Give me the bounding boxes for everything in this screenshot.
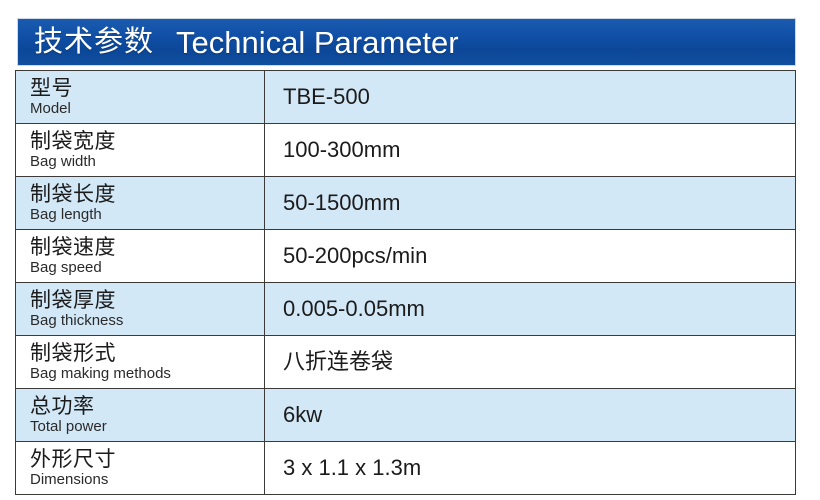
spec-label-cell: 制袋长度Bag length bbox=[16, 177, 265, 230]
spec-label-group: 制袋长度Bag length bbox=[16, 180, 264, 226]
spec-label-group: 制袋速度Bag speed bbox=[16, 233, 264, 279]
spec-value-text: 50-1500mm bbox=[265, 191, 795, 215]
spec-label-cell: 制袋厚度Bag thickness bbox=[16, 283, 265, 336]
spec-value-cell: 50-200pcs/min bbox=[265, 230, 796, 283]
spec-label-chinese: 制袋厚度 bbox=[30, 289, 264, 313]
spec-label-chinese: 总功率 bbox=[30, 395, 264, 419]
spec-label-group: 型号Model bbox=[16, 74, 264, 120]
spec-label-cell: 型号Model bbox=[16, 71, 265, 124]
spec-value-text: 0.005-0.05mm bbox=[265, 297, 795, 321]
spec-value-cell: 3 x 1.1 x 1.3m bbox=[265, 442, 796, 495]
spec-label-group: 总功率Total power bbox=[16, 392, 264, 438]
spec-value-cell: 50-1500mm bbox=[265, 177, 796, 230]
table-row: 外形尺寸Dimensions3 x 1.1 x 1.3m bbox=[16, 442, 796, 495]
spec-label-chinese: 制袋宽度 bbox=[30, 130, 264, 154]
spec-value-cell: TBE-500 bbox=[265, 71, 796, 124]
specification-table-body: 型号ModelTBE-500制袋宽度Bag width100-300mm制袋长度… bbox=[16, 71, 796, 495]
spec-value-cell: 100-300mm bbox=[265, 124, 796, 177]
spec-label-chinese: 外形尺寸 bbox=[30, 448, 264, 472]
spec-label-english: Model bbox=[30, 101, 264, 117]
spec-label-cell: 制袋宽度Bag width bbox=[16, 124, 265, 177]
technical-parameter-spec-sheet: 技术参数 Technical Parameter 型号ModelTBE-500制… bbox=[0, 0, 820, 500]
spec-label-english: Total power bbox=[30, 419, 264, 435]
spec-label-cell: 外形尺寸Dimensions bbox=[16, 442, 265, 495]
spec-value-text: 八折连卷袋 bbox=[265, 350, 795, 374]
spec-label-chinese: 制袋速度 bbox=[30, 236, 264, 260]
spec-label-english: Bag length bbox=[30, 207, 264, 223]
spec-label-group: 制袋宽度Bag width bbox=[16, 127, 264, 173]
spec-value-cell: 0.005-0.05mm bbox=[265, 283, 796, 336]
spec-label-english: Bag making methods bbox=[30, 366, 264, 382]
spec-label-cell: 总功率Total power bbox=[16, 389, 265, 442]
spec-label-chinese: 制袋长度 bbox=[30, 183, 264, 207]
spec-label-english: Bag width bbox=[30, 154, 264, 170]
table-row: 制袋厚度Bag thickness0.005-0.05mm bbox=[16, 283, 796, 336]
spec-value-text: 3 x 1.1 x 1.3m bbox=[265, 456, 795, 480]
spec-label-english: Bag thickness bbox=[30, 313, 264, 329]
page-title-chinese: 技术参数 bbox=[34, 28, 154, 57]
spec-label-english: Bag speed bbox=[30, 260, 264, 276]
table-row: 制袋长度Bag length50-1500mm bbox=[16, 177, 796, 230]
spec-value-cell: 6kw bbox=[265, 389, 796, 442]
spec-label-cell: 制袋速度Bag speed bbox=[16, 230, 265, 283]
spec-value-text: 50-200pcs/min bbox=[265, 244, 795, 268]
spec-value-text: 6kw bbox=[265, 403, 795, 427]
specification-table: 型号ModelTBE-500制袋宽度Bag width100-300mm制袋长度… bbox=[15, 70, 796, 495]
table-row: 制袋速度Bag speed50-200pcs/min bbox=[16, 230, 796, 283]
spec-label-cell: 制袋形式Bag making methods bbox=[16, 336, 265, 389]
spec-value-text: TBE-500 bbox=[265, 85, 795, 109]
table-row: 总功率Total power6kw bbox=[16, 389, 796, 442]
spec-label-chinese: 型号 bbox=[30, 77, 264, 101]
table-row: 制袋形式Bag making methods八折连卷袋 bbox=[16, 336, 796, 389]
spec-label-group: 制袋形式Bag making methods bbox=[16, 339, 264, 385]
table-row: 制袋宽度Bag width100-300mm bbox=[16, 124, 796, 177]
spec-label-group: 外形尺寸Dimensions bbox=[16, 445, 264, 491]
spec-label-group: 制袋厚度Bag thickness bbox=[16, 286, 264, 332]
page-title-banner: 技术参数 Technical Parameter bbox=[18, 19, 795, 65]
table-row: 型号ModelTBE-500 bbox=[16, 71, 796, 124]
spec-label-chinese: 制袋形式 bbox=[30, 342, 264, 366]
spec-label-english: Dimensions bbox=[30, 472, 264, 488]
spec-value-text: 100-300mm bbox=[265, 138, 795, 162]
spec-value-cell: 八折连卷袋 bbox=[265, 336, 796, 389]
page-title-english: Technical Parameter bbox=[176, 27, 459, 58]
